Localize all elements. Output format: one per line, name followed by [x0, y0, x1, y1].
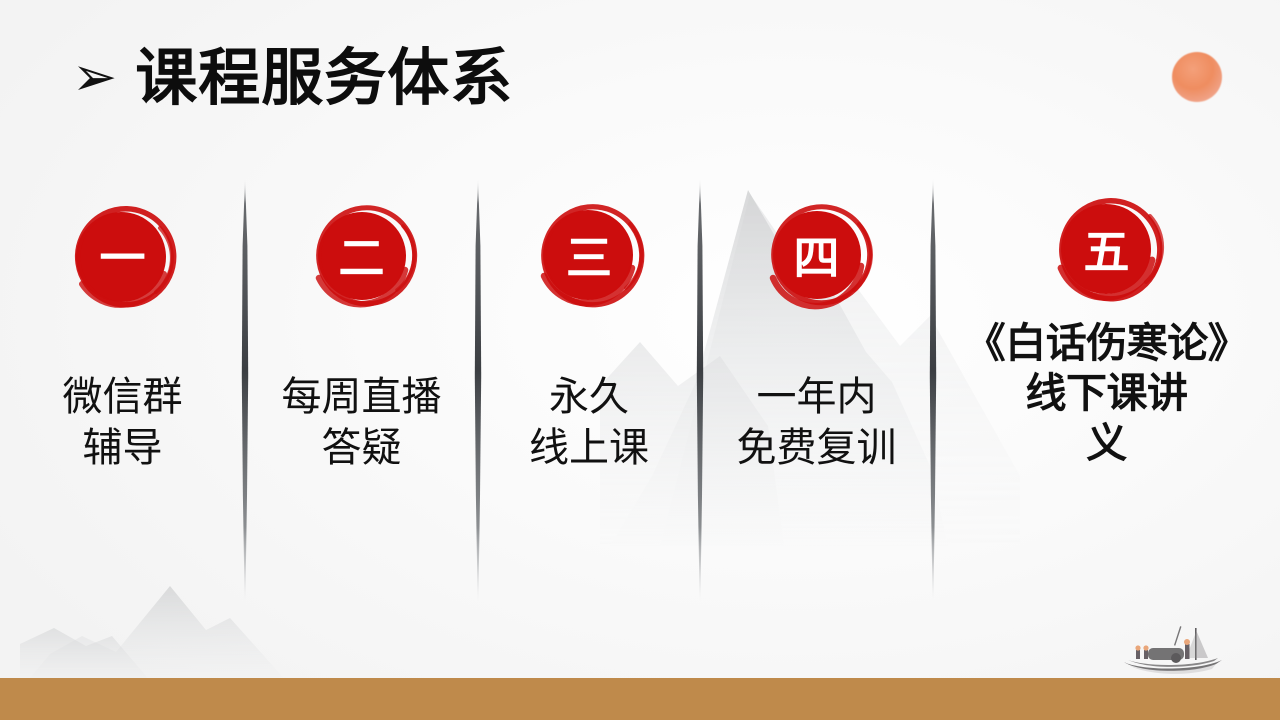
service-item[interactable]: 二 每周直播 答疑 — [245, 176, 478, 606]
slide-canvas: ➢ 课程服务体系 — [0, 0, 1280, 720]
seal-badge: 一 — [64, 200, 182, 318]
page-title: ➢ 课程服务体系 — [72, 46, 513, 111]
seal-number: 四 — [794, 235, 840, 281]
arrow-bullet-icon: ➢ — [72, 50, 117, 104]
page-title-text: 课程服务体系 — [135, 46, 513, 111]
seal-number: 一 — [100, 235, 146, 281]
service-caption: 《白话伤寒论》 线下课讲 义 — [957, 318, 1257, 468]
seal-badge: 四 — [758, 200, 876, 318]
service-item[interactable]: 三 永久 线上课 — [478, 176, 700, 606]
seal-badge: 二 — [303, 200, 421, 318]
boat-icon — [1118, 620, 1228, 680]
service-caption: 永久 线上课 — [529, 372, 649, 474]
seal-badge: 五 — [1048, 194, 1166, 312]
service-caption: 微信群 辅导 — [63, 372, 183, 474]
service-columns: 一 微信群 辅导 二 每周直播 答疑 — [0, 176, 1280, 606]
service-caption: 每周直播 答疑 — [282, 372, 442, 474]
footer-bar — [0, 678, 1280, 720]
service-item[interactable]: 五 《白话伤寒论》 线下课讲 义 — [933, 176, 1280, 606]
service-item[interactable]: 四 一年内 免费复训 — [700, 176, 933, 606]
sun-icon — [1172, 52, 1222, 102]
service-caption: 一年内 免费复训 — [737, 372, 897, 474]
seal-number: 五 — [1084, 229, 1130, 275]
service-item[interactable]: 一 微信群 辅导 — [0, 176, 245, 606]
seal-number: 三 — [566, 235, 612, 281]
seal-number: 二 — [339, 235, 385, 281]
seal-badge: 三 — [530, 200, 648, 318]
